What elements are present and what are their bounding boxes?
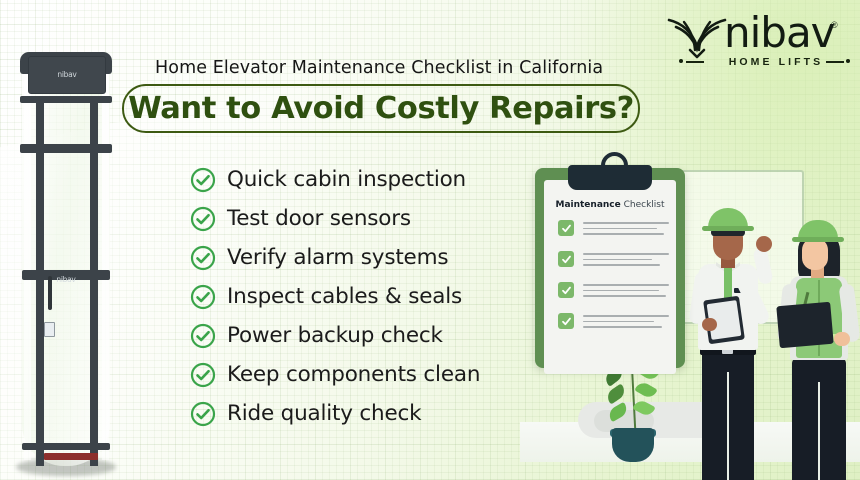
clipboard-ring-icon <box>601 152 628 179</box>
list-item: Verify alarm systems <box>190 238 530 277</box>
check-circle-icon <box>190 362 216 388</box>
check-circle-icon <box>190 167 216 193</box>
elevator-call-button[interactable] <box>44 322 55 337</box>
elevator-base-strip <box>44 453 98 460</box>
elevator-door-handle[interactable] <box>48 276 52 310</box>
checkbox-checked-icon[interactable] <box>558 251 574 267</box>
checkbox-checked-icon[interactable] <box>558 220 574 236</box>
check-circle-icon <box>190 206 216 232</box>
list-item-label: Power backup check <box>227 323 443 348</box>
check-circle-icon <box>190 401 216 427</box>
clipboard-rows <box>558 220 669 344</box>
logo-dash-right <box>826 61 844 63</box>
table-row <box>558 251 669 282</box>
male-technician <box>682 182 778 480</box>
hardhat-brim <box>792 237 844 242</box>
list-item-label: Quick cabin inspection <box>227 167 466 192</box>
cabin-brand-text-lower: nibav <box>56 275 75 284</box>
plant-leaf <box>604 383 627 404</box>
left-hand <box>702 318 717 331</box>
elevator-rail-upper <box>20 96 112 103</box>
table-row <box>558 220 669 251</box>
clipboard-icon <box>776 302 833 349</box>
elevator-sheen-left <box>24 60 31 460</box>
row-text-lines <box>583 251 669 270</box>
right-hand <box>834 332 850 346</box>
list-item: Inspect cables & seals <box>190 277 530 316</box>
elevator-panel-logo: nibav <box>33 67 101 82</box>
plant-leaf <box>606 402 629 422</box>
row-text-lines <box>583 220 669 239</box>
logo-dash-left <box>686 61 704 63</box>
elevator-top-panel: nibav <box>28 56 106 94</box>
elevator-door-logo: nibav <box>32 272 100 287</box>
elevator-rail-mid <box>20 144 112 153</box>
row-text-lines <box>583 282 669 301</box>
list-item: Quick cabin inspection <box>190 160 530 199</box>
clipboard-title: Maintenance Checklist <box>535 200 685 210</box>
list-item: Power backup check <box>190 316 530 355</box>
list-item: Keep components clean <box>190 355 530 394</box>
hardhat-brim <box>702 226 754 231</box>
clipboard-title-light: Checklist <box>621 200 665 210</box>
clipboard-title-bold: Maintenance <box>555 200 620 210</box>
list-item-label: Verify alarm systems <box>227 245 448 270</box>
checkbox-checked-icon[interactable] <box>558 282 574 298</box>
cabin-brand-text: nibav <box>57 70 76 79</box>
list-item: Test door sensors <box>190 199 530 238</box>
female-technician <box>772 192 860 480</box>
list-item-label: Keep components clean <box>227 362 480 387</box>
plant-leaf <box>632 398 655 418</box>
headline-pill: Want to Avoid Costly Repairs? <box>122 84 640 133</box>
brand-name: nibav <box>724 12 835 54</box>
plant-pot <box>612 428 654 462</box>
check-circle-icon <box>190 245 216 271</box>
registered-mark: ® <box>831 20 838 30</box>
list-item-label: Test door sensors <box>227 206 411 231</box>
checklist: Quick cabin inspection Test door sensors… <box>190 160 530 433</box>
headline-text: Want to Avoid Costly Repairs? <box>128 91 634 126</box>
plant-leaf <box>634 380 657 400</box>
brand-tagline: HOME LIFTS <box>706 56 846 68</box>
subtitle-text: Home Elevator Maintenance Checklist in C… <box>155 58 603 78</box>
maintenance-clipboard: Maintenance Checklist <box>535 168 685 368</box>
list-item-label: Ride quality check <box>227 401 421 426</box>
leg-split-line <box>727 372 729 480</box>
table-row <box>558 282 669 313</box>
check-circle-icon <box>190 284 216 310</box>
check-circle-icon <box>190 323 216 349</box>
elevator-sheen-right <box>102 60 109 460</box>
logo-dot-right <box>846 59 850 63</box>
checkbox-checked-icon[interactable] <box>558 313 574 329</box>
list-item: Ride quality check <box>190 394 530 433</box>
nibav-logo[interactable]: nibav ® HOME LIFTS <box>666 14 844 70</box>
head-shape <box>802 238 828 270</box>
logo-dot-left <box>679 59 683 63</box>
table-row <box>558 313 669 344</box>
glass-home-elevator-illustration: nibav nibav <box>14 26 118 472</box>
ok-gesture-hand-icon <box>756 236 772 252</box>
list-item-label: Inspect cables & seals <box>227 284 462 309</box>
poster-canvas: nibav ® HOME LIFTS Home Elevator Mainten… <box>0 0 860 480</box>
leg-split-line <box>818 382 820 480</box>
row-text-lines <box>583 313 669 332</box>
